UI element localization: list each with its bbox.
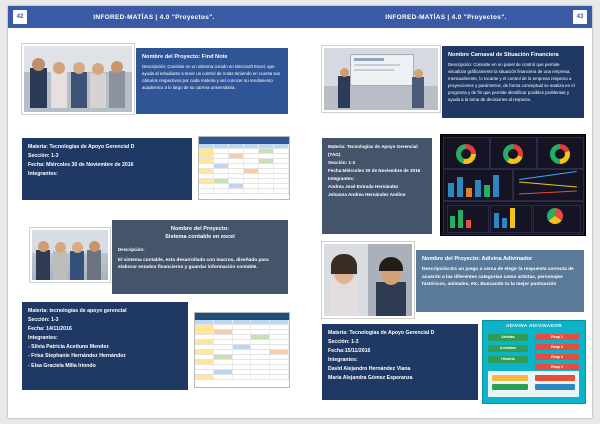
project4-description: Descripción:Es un juego a cerca de elegi… — [422, 266, 578, 288]
project2-group-photo — [30, 228, 110, 282]
magazine-spread: INFORED-MATÍAS | 4.0 "Proyectos". 42 — [8, 6, 592, 418]
right-header-title: INFORED-MATÍAS | 4.0 "Proyectos". — [385, 14, 506, 21]
project4-portrait-photo — [322, 242, 414, 318]
right-page-number: 43 — [573, 10, 587, 24]
project4-quiz-app-screenshot: ADIVINA ADIVINADOR Artistas Animales His… — [482, 320, 586, 404]
project4-member-1: David Alejandro Hernández Viana — [328, 365, 472, 374]
project2-fecha: Fecha: 14/11/2016 — [28, 325, 182, 334]
quiz-answer-3[interactable]: Resp 3 — [535, 354, 579, 360]
project2-seccion: Sección: 1-3 — [28, 316, 182, 325]
project2-title-line2: Sistema contable en excel — [118, 233, 282, 241]
project3-seccion: Sección: 1-3 — [328, 159, 426, 167]
project2-integrantes: Integrantes: — [28, 334, 182, 343]
project2-member-2: - Frisa Stephanie Hernández Hernández — [28, 352, 182, 361]
project1-fecha: Fecha: Miércoles 30 de Noviembre de 2016 — [28, 161, 186, 170]
project1-title: Nombre del Proyecto: Find Note — [142, 53, 282, 61]
project3-dashboard-screenshot — [440, 134, 586, 236]
project3-member-1: Andrea José Estrada Hernández — [328, 183, 426, 191]
project3-member-2: Johanna Andrea Hernández Andino — [328, 191, 426, 199]
quiz-app-title: ADIVINA ADIVINADOR — [483, 323, 585, 328]
project1-description: Descripción: Consiste en un sistema crea… — [142, 64, 282, 91]
left-header-title: INFORED-MATÍAS | 4.0 "Proyectos". — [93, 14, 214, 21]
project3-materia: Materia: Tecnologías de Apoyo Gerencial … — [328, 143, 426, 159]
project4-fecha: Fecha:15/11/2016 — [328, 347, 472, 356]
quiz-answer-1[interactable]: Resp 1 — [535, 334, 579, 340]
project1-materia: Materia: Tecnologías de Apoyo Gerencial … — [28, 143, 186, 152]
project2-title-line1: Nombre del Proyecto: — [118, 225, 282, 233]
left-page-header: INFORED-MATÍAS | 4.0 "Proyectos". — [8, 6, 300, 28]
project1-info-block: Materia: Tecnologías de Apoyo Gerencial … — [22, 138, 192, 200]
quiz-answer-2[interactable]: Resp 2 — [535, 344, 579, 350]
project3-info-block: Materia: Tecnologías de Apoyo Gerencial … — [322, 138, 432, 234]
project3-title: Nombre Carnaval de Situación Financiera — [448, 51, 578, 59]
left-page-number: 42 — [13, 10, 27, 24]
right-page-header: INFORED-MATÍAS | 4.0 "Proyectos". — [300, 6, 592, 28]
project3-fecha: Fecha:Miércoles 30 de Noviembre de 2016 — [328, 167, 426, 175]
project2-member-1: - Silvia Patricia Aceituno Mendez — [28, 343, 182, 352]
project4-member-2: Maria Alejandra Gómez Esperanza — [328, 374, 472, 383]
project3-description: Descripción: Consiste en un panel de con… — [448, 62, 578, 103]
project3-integrantes: Integrantes: — [328, 175, 426, 183]
right-page: INFORED-MATÍAS | 4.0 "Proyectos". 43 — [300, 6, 592, 418]
project2-info-block: Materia: tecnologías de apoyo gerencial … — [22, 302, 188, 390]
project1-integrantes: Integrantes: — [28, 170, 186, 179]
quiz-answer-4[interactable]: Resp 4 — [535, 364, 579, 370]
project3-description-card: Nombre Carnaval de Situación Financiera … — [442, 46, 584, 118]
project2-materia: Materia: tecnologías de apoyo gerencial — [28, 307, 182, 316]
project3-presentation-photo — [322, 46, 440, 112]
project1-description-card: Nombre del Proyecto: Find Note Descripci… — [136, 48, 288, 114]
project4-title: Nombre del Proyecto: Adivina Adivinador — [422, 255, 578, 263]
project2-member-3: - Elsa Graciela Milla Iriondo — [28, 362, 182, 371]
project2-description-card: Nombre del Proyecto: Sistema contable en… — [112, 220, 288, 294]
quiz-category-3[interactable]: Historia — [488, 356, 528, 363]
project4-seccion: Sección: 1-3 — [328, 338, 472, 347]
project2-desc-label: Descripción: — [118, 247, 282, 254]
project1-group-photo — [22, 44, 134, 114]
project2-description: El sistema contable, esta desarrollado c… — [118, 257, 282, 272]
quiz-category-2[interactable]: Animales — [488, 345, 528, 352]
project4-materia: Materia: Tecnologías de Apoyo Gerencial … — [328, 329, 472, 338]
project4-info-block: Materia: Tecnologías de Apoyo Gerencial … — [322, 324, 478, 400]
project1-excel-screenshot — [198, 136, 290, 200]
quiz-category-1[interactable]: Artistas — [488, 334, 528, 341]
project4-integrantes: Integrantes: — [328, 356, 472, 365]
project4-description-card: Nombre del Proyecto: Adivina Adivinador … — [416, 250, 584, 312]
left-page: INFORED-MATÍAS | 4.0 "Proyectos". 42 — [8, 6, 301, 418]
document-page: INFORED-MATÍAS | 4.0 "Proyectos". 42 — [0, 0, 600, 424]
project1-seccion: Sección: 1-3 — [28, 152, 186, 161]
project2-excel-screenshot — [194, 312, 290, 388]
